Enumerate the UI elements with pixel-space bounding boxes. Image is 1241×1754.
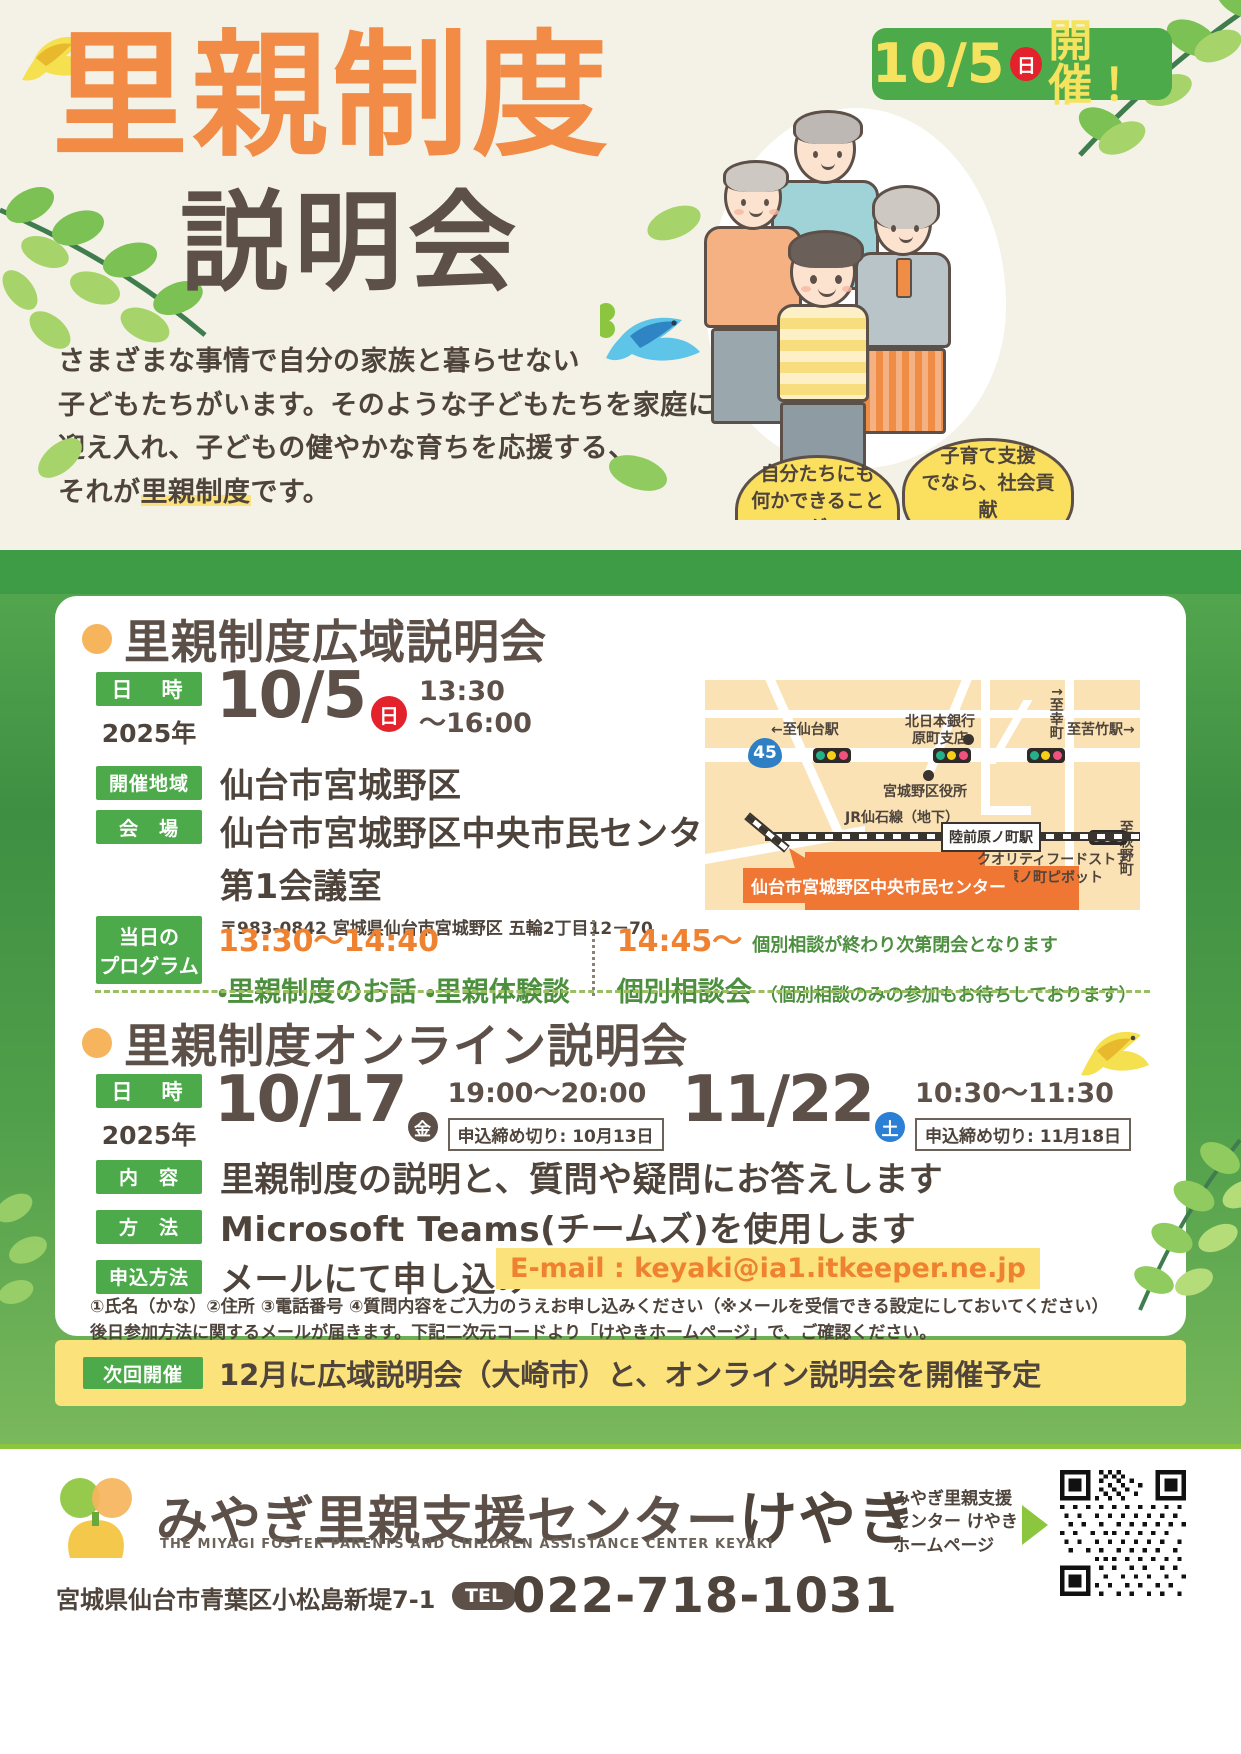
- section2-datetime-row: 日 時 2025年 10/17 金 19:00〜20:00 申込締め切り: 10…: [96, 1074, 1131, 1152]
- next-event-text: 12月に広域説明会（大崎市）と、オンライン説明会を開催予定: [219, 1352, 1041, 1394]
- section1-time-start: 13:30: [419, 676, 505, 707]
- girl-skirt: [860, 348, 946, 434]
- lead-line-4-post: です。: [251, 477, 331, 508]
- page-subtitle: 説明会: [180, 190, 522, 298]
- badge-day-sunday: 日: [1010, 47, 1042, 81]
- label-program: 当日の プログラム: [96, 916, 202, 984]
- section1-year: 2025年: [102, 714, 197, 750]
- badge-suffix: 開催！: [1048, 20, 1172, 108]
- map-traffic-signal-3-icon: [1027, 748, 1065, 763]
- boy-shirt: [777, 304, 869, 402]
- poster-root: 里親制度 説明会 さまざまな事情で自分の家族と暮らせない 子どもたちがいます。そ…: [0, 0, 1241, 1754]
- boy-head: [790, 236, 856, 308]
- floating-leaf-2-icon: [600, 445, 680, 505]
- map-bank-line1: 北日本銀行: [905, 714, 975, 730]
- map-road-vertical-1: [981, 680, 990, 815]
- girl-necktie: [896, 258, 912, 298]
- section2-day-saturday: 土: [875, 1112, 905, 1142]
- note-line-1: ①氏名（かな）②住所 ③電話番号 ④質問内容をご入力のうえお申し込みください（※…: [90, 1294, 1150, 1320]
- map-label-to-sendai: ←至仙台駅: [771, 722, 839, 739]
- section2-year: 2025年: [102, 1116, 197, 1152]
- map-label-to-nigatake: 至苦竹駅→: [1067, 722, 1135, 739]
- section2-content-row: 内 容 里親制度の説明と、質問や疑問にお答えします: [96, 1152, 943, 1201]
- leaf-branch-bottom-left-icon: [0, 1180, 120, 1330]
- application-email[interactable]: E-mail : keyaki@ia1.itkeeper.ne.jp: [496, 1248, 1040, 1289]
- qr-arrow-icon: [1022, 1505, 1048, 1545]
- lead-line-4-highlight: 里親制度: [141, 477, 251, 508]
- section2-date-1: 10/17: [214, 1070, 406, 1131]
- label-region: 開催地域: [96, 766, 202, 800]
- map-road-spur: [981, 806, 1031, 815]
- badge-date: 10/5: [872, 37, 1004, 91]
- footer-tel-number[interactable]: 022-718-1031: [512, 1568, 898, 1624]
- keyaki-logo-icon: [50, 1476, 146, 1568]
- bullet-dot-icon-2: [82, 1028, 112, 1058]
- section1-time-end: 〜16:00: [419, 708, 532, 739]
- section1-venue-line1: 仙台市宮城野区中央市民センター: [220, 806, 738, 855]
- floating-leaf-3-icon: [28, 430, 98, 490]
- map-traffic-signal-1-icon: [813, 748, 851, 763]
- map-bank-line2: 原町支店: [912, 731, 968, 747]
- leaf-branch-bottom-right-icon: [1070, 1130, 1241, 1330]
- next-event-bar: 次回開催 12月に広域説明会（大崎市）と、オンライン説明会を開催予定: [55, 1340, 1186, 1406]
- footer-address: 宮城県仙台市青葉区小松島新堤7-1: [56, 1580, 435, 1615]
- map-dot-ward-office: [923, 770, 934, 781]
- section1-day-sunday: 日: [371, 696, 407, 732]
- town-silhouette-band: [0, 520, 1241, 594]
- section1-region-value: 仙台市宮城野区: [220, 758, 462, 807]
- section2-content-value: 里親制度の説明と、質問や疑問にお答えします: [220, 1152, 943, 1201]
- footer-divider: [0, 1444, 1241, 1449]
- bubble-right-line2: でなら、社会貢献: [921, 472, 1054, 521]
- map-label-to-saiwaicho: ↑至幸町: [1047, 686, 1064, 740]
- section2-time-2: 10:30〜11:30: [915, 1078, 1131, 1110]
- section1-region-row: 開催地域 仙台市宮城野区: [96, 758, 462, 807]
- section-separator: [95, 990, 1150, 993]
- map-store-line1: クオリティフードストア: [977, 852, 1130, 868]
- program-right-sub: （個別相談のみの参加もお待ちしております）: [760, 981, 1137, 1007]
- qr-code-label: みやぎ里親支援 センター けやき ホームページ: [893, 1488, 1033, 1558]
- label-datetime-2: 日 時: [96, 1074, 202, 1108]
- label-datetime-1: 日 時: [96, 672, 202, 706]
- application-notes: ①氏名（かな）②住所 ③電話番号 ④質問内容をご入力のうえお申し込みください（※…: [90, 1294, 1150, 1347]
- label-next-event: 次回開催: [83, 1357, 203, 1389]
- page-title: 里親制度: [52, 28, 612, 167]
- label-program-line1: 当日の: [119, 921, 179, 950]
- section2-day-friday: 金: [408, 1112, 438, 1142]
- map-callout-venue: 仙台市宮城野区中央市民センター: [743, 868, 1014, 903]
- town-skyline-icon: [0, 520, 1241, 594]
- label-venue: 会 場: [96, 810, 202, 844]
- section2-deadline-1: 申込締め切り: 10月13日: [448, 1118, 664, 1151]
- section1-datetime-row: 日 時 2025年 10/5 日 13:30 〜16:00: [96, 672, 532, 750]
- section1-venue-line2: 第1会議室: [220, 859, 738, 908]
- map-traffic-signal-2-icon: [933, 748, 971, 763]
- qr-label-line1: みやぎ里親支援: [893, 1489, 1012, 1509]
- section2-method-row: 方 法 Microsoft Teams(チームズ)を使用します: [96, 1202, 916, 1251]
- bubble-right-line1: 子育て支援: [940, 445, 1035, 467]
- map-dot-bank: [963, 734, 974, 745]
- label-program-line2: プログラム: [99, 950, 198, 979]
- qr-label-line3: ホームページ: [893, 1536, 994, 1556]
- floating-leaf-1-icon: [640, 195, 710, 255]
- lead-line-2: 子どもたちがいます。そのような子どもたちを家庭に: [58, 384, 715, 428]
- section1-program-row: 当日の プログラム 13:30〜14:40 ・里親制度のお話 ・里親体験談 14…: [96, 916, 1137, 1009]
- girl-head: [874, 190, 932, 256]
- qr-label-line2: センター けやき: [893, 1512, 1018, 1532]
- bubble-left-line1: 自分たちにも: [760, 463, 874, 485]
- lead-line-1: さまざまな事情で自分の家族と暮らせない: [58, 340, 715, 384]
- section1-date: 10/5: [216, 666, 365, 727]
- program-right-note: 個別相談が終わり次第閉会となります: [752, 931, 1057, 957]
- footer-org-name-english: THE MIYAGI FOSTER PARENTS AND CHILDREN A…: [160, 1537, 774, 1552]
- section2-method-value: Microsoft Teams(チームズ)を使用します: [220, 1202, 916, 1251]
- route-45-shield-icon: 45: [748, 738, 782, 768]
- section2-time-1: 19:00〜20:00: [448, 1078, 664, 1110]
- bullet-dot-icon: [82, 624, 112, 654]
- footer-tel-label: TEL: [452, 1582, 516, 1610]
- father-head: [794, 114, 856, 184]
- event-date-badge: 10/5 日 開催！: [872, 28, 1172, 100]
- program-left-time: 13:30〜14:40: [218, 916, 570, 960]
- person-girl: [874, 190, 951, 434]
- map-label-ward-office: 宮城野区役所: [883, 784, 967, 801]
- section2-title-text: 里親制度オンライン説明会: [124, 1010, 688, 1076]
- program-right-time: 14:45〜: [617, 916, 743, 960]
- qr-code[interactable]: [1060, 1470, 1186, 1596]
- map-station-label: 陸前原ノ町駅: [941, 822, 1041, 852]
- section2-date-2: 11/22: [682, 1070, 874, 1131]
- grandmother-head: [724, 164, 782, 230]
